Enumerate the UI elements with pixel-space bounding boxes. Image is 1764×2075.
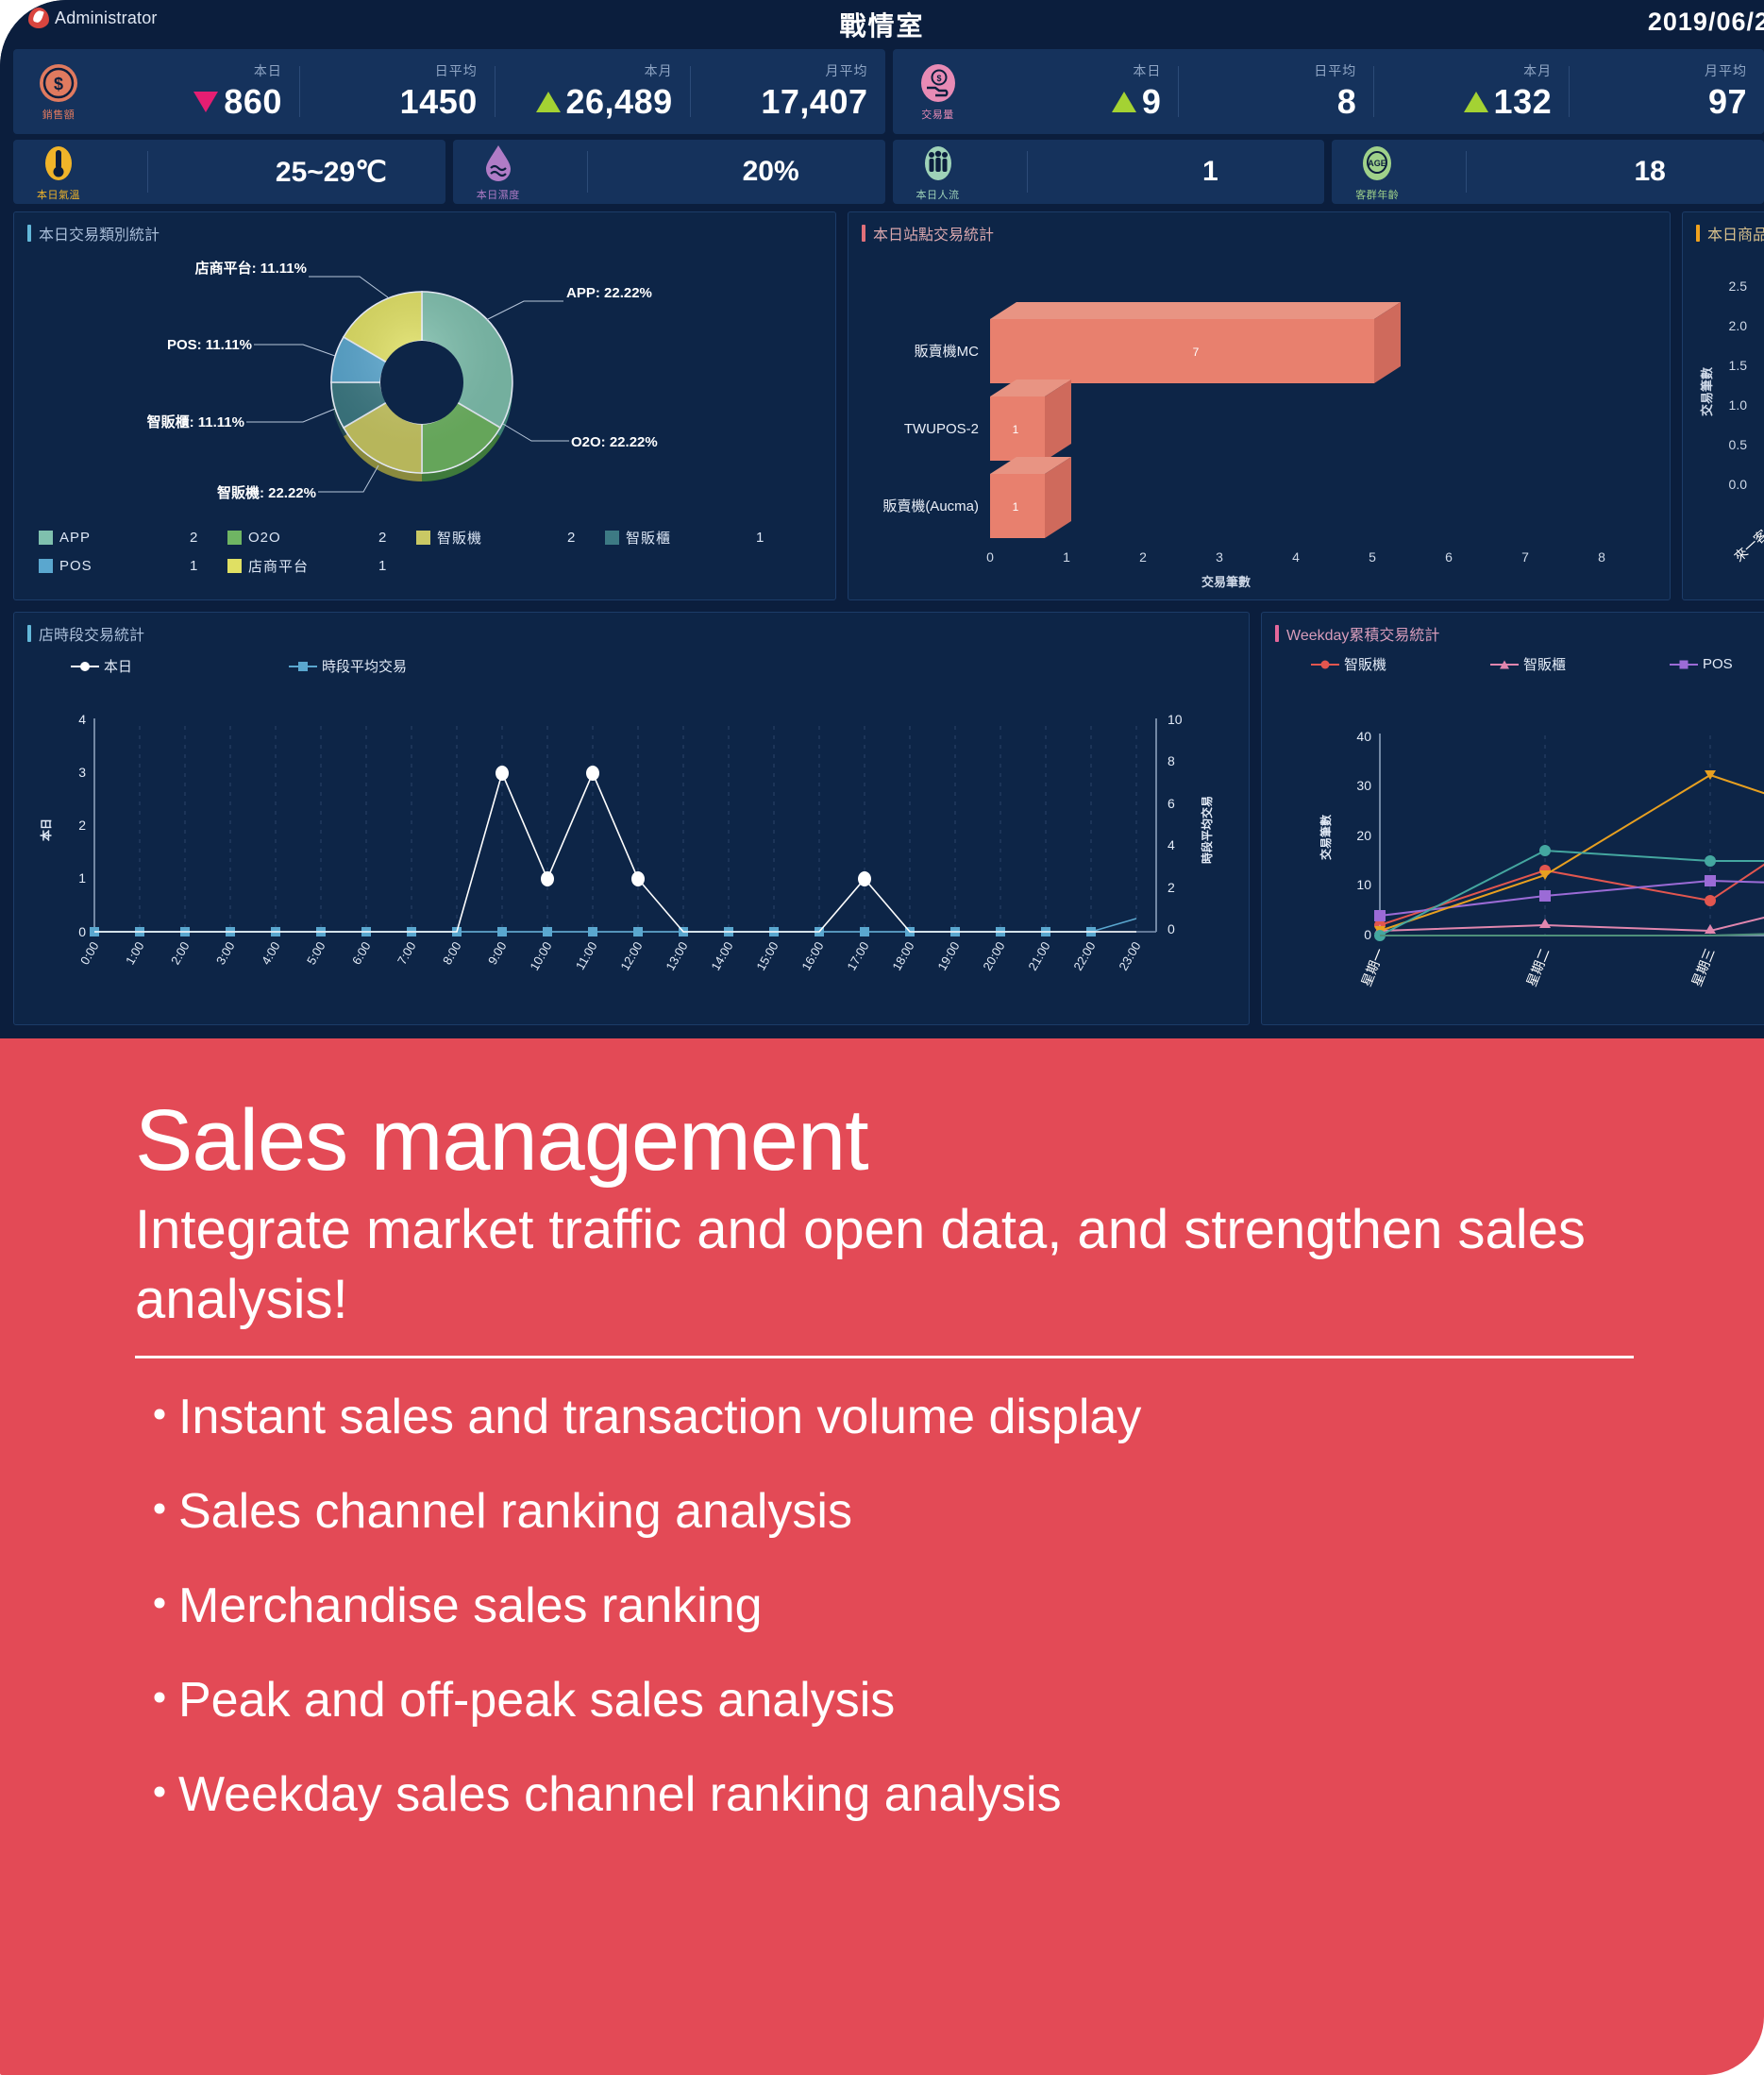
- svg-text:$: $: [54, 75, 63, 93]
- kpi-icon-label: 本日氣溫: [37, 187, 80, 202]
- svg-text:20:00: 20:00: [980, 939, 1007, 973]
- kpi-value: 1: [983, 156, 1325, 188]
- hourly-legend: 本日 時段平均交易: [71, 656, 450, 685]
- panel-title: 本日交易類別統計: [27, 222, 160, 245]
- kpi-caption: 本月: [1523, 61, 1552, 80]
- svg-text:16:00: 16:00: [798, 939, 826, 973]
- station-bar-chart: 7 販賣機MC 1 TWUPOS-2: [848, 250, 1672, 601]
- bar-category: TWUPOS-2: [904, 421, 979, 437]
- svg-text:0:00: 0:00: [77, 939, 102, 967]
- bar-value: 1: [1013, 423, 1019, 436]
- y-axis-label: 交易筆數: [1700, 367, 1714, 416]
- coin-dollar-icon: $: [37, 61, 80, 105]
- kpi-value: 17,407: [761, 82, 867, 122]
- kpi-value-group: 8: [1337, 82, 1357, 122]
- kpi-caption: 本日: [1133, 61, 1161, 80]
- legend-label: APP: [59, 530, 190, 546]
- legend-item[interactable]: 本日: [71, 656, 132, 676]
- svg-text:17:00: 17:00: [844, 939, 871, 973]
- legend-value: 2: [567, 530, 605, 546]
- legend-label: 智販機: [1344, 654, 1386, 674]
- kpi-value-group: 97: [1708, 82, 1747, 122]
- date-display: 2019/06/2: [1648, 8, 1764, 37]
- dashboard-screenshot: Administrator 戰情室 2019/06/2 $: [0, 0, 1764, 1038]
- list-item-label: Instant sales and transaction volume dis…: [178, 1392, 1141, 1442]
- kpi-value-group: 9: [1112, 82, 1162, 122]
- kpi-card-temperature[interactable]: 本日氣溫 25~29℃: [13, 140, 445, 204]
- kpi-value: 97: [1708, 82, 1747, 122]
- list-item: ・ Peak and off-peak sales analysis: [135, 1676, 1707, 1725]
- kpi-value-group: 860: [193, 82, 282, 122]
- legend-label: POS: [59, 558, 190, 574]
- legend-value: 1: [190, 558, 227, 574]
- legend-item[interactable]: 智販機: [1311, 654, 1490, 674]
- panel-title-text: Weekday累積交易統計: [1286, 622, 1439, 645]
- feature-list: ・ Instant sales and transaction volume d…: [135, 1392, 1707, 1819]
- x-axis-ticks: 0:00 1:00 2:00 3:00 4:00 5:00 6:00 7:00 …: [77, 939, 1144, 973]
- svg-text:星期一: 星期一: [1358, 946, 1387, 988]
- thermometer-icon: [37, 142, 80, 185]
- svg-text:2: 2: [1139, 549, 1147, 565]
- list-item: ・ Sales channel ranking analysis: [135, 1487, 1707, 1536]
- svg-text:7: 7: [1521, 549, 1529, 565]
- x-axis-ticks: 來一客-鮮蝦魚板 統一肉燥麵 阿Q桶麵-蘿汁排骨 樂事洋芋片-瑞士香濃起司 Po…: [1731, 488, 1764, 599]
- kpi-primary-row: $ 銷售額 本日 860: [13, 49, 1764, 134]
- panel-title-text: 本日交易類別統計: [39, 222, 160, 245]
- donut-label-o2o: O2O: 22.22%: [571, 434, 658, 450]
- svg-text:$: $: [936, 74, 941, 83]
- list-item: ・ Merchandise sales ranking: [135, 1581, 1707, 1630]
- kpi-caption: 本日: [254, 61, 282, 80]
- admin-user[interactable]: Administrator: [28, 8, 158, 28]
- svg-text:2: 2: [78, 818, 86, 833]
- age-group-icon: AGE: [1355, 142, 1399, 185]
- bullet-icon: ・: [135, 1581, 178, 1630]
- bar-category: 販賣機MC: [915, 344, 979, 360]
- legend-item[interactable]: POS 1: [39, 556, 227, 576]
- svg-text:10: 10: [1356, 877, 1371, 892]
- kpi-metric: 月平均 97: [1569, 49, 1764, 134]
- banner-title: Sales management: [135, 1097, 1707, 1186]
- svg-text:5: 5: [1369, 549, 1376, 565]
- hourly-line-chart: 432 10 本日 1086 420 時段平均交易: [14, 707, 1251, 1019]
- list-item: ・ Instant sales and transaction volume d…: [135, 1392, 1707, 1442]
- kpi-value: 1450: [400, 82, 478, 122]
- trend-down-icon: [193, 92, 218, 112]
- svg-text:13:00: 13:00: [663, 939, 690, 973]
- x-axis-label: 交易筆數: [1201, 575, 1251, 589]
- legend-label: O2O: [248, 530, 378, 546]
- bar-value: 1: [1013, 500, 1019, 514]
- series-line-avg: [94, 919, 1136, 932]
- svg-text:12:00: 12:00: [617, 939, 645, 973]
- kpi-value-group: 132: [1464, 82, 1553, 122]
- y-axis-ticks: 2.52.01.5 1.00.50.0: [1729, 278, 1748, 492]
- legend-label: 智販櫃: [1523, 654, 1566, 674]
- kpi-icon-label: 客群年齡: [1355, 187, 1399, 202]
- legend-label: 本日: [104, 656, 132, 676]
- donut-label-pos: POS: 11.11%: [167, 337, 252, 353]
- y-axis-ticks: 432 10: [78, 712, 86, 939]
- bar-3d: [990, 457, 1071, 538]
- kpi-value-group: 1450: [400, 82, 478, 122]
- kpi-metric: 本日 860: [104, 49, 299, 134]
- legend-item[interactable]: O2O 2: [227, 528, 416, 548]
- svg-text:18:00: 18:00: [889, 939, 916, 973]
- svg-text:2.5: 2.5: [1729, 278, 1748, 294]
- category-donut-chart: APP: 22.22% 店商平台: 11.11% POS: 11.11% 智販櫃…: [14, 245, 837, 518]
- gridlines: [94, 726, 1136, 932]
- donut-label-app: APP: 22.22%: [566, 285, 652, 301]
- svg-text:0: 0: [986, 549, 994, 565]
- weekday-legend: 智販機 智販櫃 POS O2O: [1311, 654, 1764, 683]
- svg-text:21:00: 21:00: [1025, 939, 1052, 973]
- kpi-metric: 本月 132: [1373, 49, 1569, 134]
- svg-text:4: 4: [1292, 549, 1300, 565]
- legend-value: 1: [756, 530, 794, 546]
- svg-text:10:00: 10:00: [527, 939, 554, 973]
- panel-title: 本日站點交易統計: [862, 222, 994, 245]
- svg-text:11:00: 11:00: [573, 939, 600, 972]
- trend-up-icon: [1112, 92, 1136, 112]
- svg-text:2.0: 2.0: [1729, 318, 1748, 333]
- kpi-secondary-row: 本日氣溫 25~29℃ 本日濕度: [13, 140, 1764, 204]
- kpi-card-foot-traffic[interactable]: 本日人流 1: [893, 140, 1325, 204]
- svg-text:星期二: 星期二: [1523, 946, 1553, 988]
- dashboard-titlebar: Administrator 戰情室 2019/06/2: [0, 0, 1764, 45]
- svg-text:19:00: 19:00: [934, 939, 962, 973]
- panel-weekday-stats: Weekday累積交易統計 智販機 智販櫃 POS: [1261, 612, 1764, 1025]
- svg-text:星期三: 星期三: [1688, 946, 1718, 988]
- legend-label: 時段平均交易: [322, 656, 407, 676]
- kpi-caption: 本月: [645, 61, 673, 80]
- trend-up-icon: [1464, 92, 1488, 112]
- svg-text:1:00: 1:00: [123, 939, 147, 967]
- svg-text:0: 0: [1168, 921, 1175, 936]
- bar-category: 販賣機(Aucma): [882, 498, 979, 515]
- svg-text:1.0: 1.0: [1729, 397, 1748, 413]
- top5-bar-chart: 2.52.01.5 1.00.50.0 交易筆數 2: [1683, 250, 1764, 601]
- kpi-value-group: 26,489: [536, 82, 673, 122]
- flame-logo-icon: [28, 8, 49, 28]
- kpi-metric: 日平均 8: [1178, 49, 1373, 134]
- y-axis-ticks: 403020 100: [1356, 729, 1371, 942]
- legend-item[interactable]: 店商平台 1: [227, 556, 416, 576]
- svg-text:8: 8: [1598, 549, 1605, 565]
- feature-banner: Sales management Integrate market traffi…: [0, 1038, 1764, 2075]
- x-axis-ticks: 012 345 678: [986, 549, 1605, 565]
- svg-text:40: 40: [1356, 729, 1371, 744]
- kpi-icon-label: 本日人流: [916, 187, 960, 202]
- kpi-caption: 日平均: [435, 61, 478, 80]
- panel-title-text: 本日站點交易統計: [873, 222, 994, 245]
- svg-text:20: 20: [1356, 828, 1371, 843]
- kpi-metric: 本日 9: [983, 49, 1179, 134]
- kpi-value: 25~29℃: [104, 156, 445, 189]
- y-axis-label: 本日: [39, 818, 53, 841]
- panel-title: Weekday累積交易統計: [1275, 622, 1439, 645]
- svg-text:4: 4: [1168, 837, 1175, 852]
- kpi-card-transactions[interactable]: $ 交易量 本日 9: [893, 49, 1764, 134]
- humidity-drop-icon: [477, 142, 520, 185]
- legend-label: POS: [1703, 656, 1733, 672]
- bar-3d: [990, 302, 1401, 383]
- page-root: Administrator 戰情室 2019/06/2 $: [0, 0, 1764, 2075]
- people-traffic-icon: [916, 142, 960, 185]
- legend-item[interactable]: 智販機 2: [416, 528, 605, 548]
- list-item: ・ Weekday sales channel ranking analysis: [135, 1770, 1707, 1819]
- list-item-label: Weekday sales channel ranking analysis: [178, 1770, 1062, 1819]
- bar-category: 來一客-鮮蝦魚板: [1731, 488, 1764, 565]
- svg-text:8:00: 8:00: [440, 939, 464, 967]
- list-item-label: Merchandise sales ranking: [178, 1581, 763, 1630]
- donut-label-cabinet: 智販櫃: 11.11%: [147, 413, 244, 430]
- donut-legend: APP 2 O2O 2 智販機 2: [39, 528, 822, 584]
- legend-value: 2: [190, 530, 227, 546]
- kpi-value: 9: [1142, 82, 1162, 122]
- svg-text:22:00: 22:00: [1070, 939, 1098, 973]
- bar-3d: [990, 380, 1071, 461]
- panel-top5-products: 本日商品銷售Top5 2.52.01.5 1.00.50.0 交易筆數: [1682, 211, 1764, 600]
- legend-item[interactable]: 智販櫃: [1490, 654, 1670, 674]
- svg-text:30: 30: [1356, 778, 1371, 793]
- svg-text:6: 6: [1445, 549, 1453, 565]
- legend-item[interactable]: APP 2: [39, 528, 227, 548]
- svg-text:1: 1: [78, 870, 86, 886]
- bullet-icon: ・: [135, 1770, 178, 1819]
- svg-text:3: 3: [78, 765, 86, 780]
- svg-text:14:00: 14:00: [708, 939, 735, 973]
- svg-text:0: 0: [78, 924, 86, 939]
- svg-text:8: 8: [1168, 753, 1175, 768]
- x-axis-ticks: 星期一 星期二 星期三 星期四 星期五 星期六 星期日: [1358, 946, 1764, 988]
- banner-subtitle: Integrate market traffic and open data, …: [135, 1195, 1607, 1335]
- svg-text:2: 2: [1168, 880, 1175, 895]
- kpi-value: 132: [1494, 82, 1553, 122]
- svg-text:4:00: 4:00: [259, 939, 283, 967]
- svg-text:1: 1: [1063, 549, 1070, 565]
- donut-label-ecom: 店商平台: 11.11%: [195, 260, 307, 277]
- bar-value: 7: [1193, 346, 1200, 359]
- panel-title-text: 本日商品銷售Top5: [1707, 222, 1764, 245]
- svg-text:9:00: 9:00: [485, 939, 510, 967]
- donut-label-vending: 智販機: 22.22%: [217, 484, 316, 501]
- svg-text:0.5: 0.5: [1729, 437, 1748, 452]
- series-line-pos: [1380, 766, 1764, 916]
- panel-category-stats: 本日交易類別統計: [13, 211, 836, 600]
- svg-text:23:00: 23:00: [1116, 939, 1143, 973]
- series-line-today: [94, 773, 1136, 932]
- list-item-label: Peak and off-peak sales analysis: [178, 1676, 895, 1725]
- kpi-card-sales[interactable]: $ 銷售額 本日 860: [13, 49, 885, 134]
- y2-axis-ticks: 1086 420: [1168, 712, 1183, 936]
- series-markers-pos: [1374, 760, 1764, 921]
- svg-text:AGE: AGE: [1368, 159, 1386, 168]
- panel-title: 本日商品銷售Top5: [1696, 222, 1764, 245]
- svg-text:2:00: 2:00: [168, 939, 193, 967]
- legend-item[interactable]: 時段平均交易: [289, 656, 407, 676]
- panel-hourly-stats: 店時段交易統計 本日 時段平均交易: [13, 612, 1250, 1025]
- hand-coin-icon: $: [916, 61, 960, 105]
- legend-value: 1: [378, 558, 416, 574]
- kpi-caption: 月平均: [826, 61, 868, 80]
- bullet-icon: ・: [135, 1392, 178, 1442]
- page-title: 戰情室: [839, 6, 924, 43]
- gridlines: [1545, 735, 1764, 936]
- svg-text:1.5: 1.5: [1729, 358, 1748, 373]
- svg-text:4: 4: [78, 712, 86, 727]
- svg-text:15:00: 15:00: [753, 939, 781, 973]
- trend-up-icon: [536, 92, 561, 112]
- kpi-icon-label: 銷售額: [42, 107, 76, 122]
- legend-value: 2: [378, 530, 416, 546]
- kpi-value: 860: [224, 82, 282, 122]
- panel-title: 店時段交易統計: [27, 622, 144, 645]
- legend-label: 智販櫃: [626, 528, 756, 548]
- kpi-value: 26,489: [566, 82, 673, 122]
- panel-title-text: 店時段交易統計: [39, 622, 144, 645]
- kpi-value-group: 17,407: [761, 82, 867, 122]
- svg-text:10: 10: [1168, 712, 1183, 727]
- svg-text:6:00: 6:00: [349, 939, 374, 967]
- svg-text:0: 0: [1364, 927, 1371, 942]
- kpi-metric: 日平均 1450: [299, 49, 495, 134]
- legend-label: 智販機: [437, 528, 567, 548]
- kpi-metric: 月平均 17,407: [690, 49, 885, 134]
- legend-item[interactable]: POS: [1670, 654, 1764, 674]
- svg-text:3: 3: [1216, 549, 1223, 565]
- svg-text:7:00: 7:00: [395, 939, 419, 967]
- list-item-label: Sales channel ranking analysis: [178, 1487, 852, 1536]
- kpi-value: 18: [1422, 156, 1764, 188]
- kpi-value: 8: [1337, 82, 1357, 122]
- series-line-o2o: [1380, 775, 1764, 936]
- svg-text:6: 6: [1168, 796, 1175, 811]
- panel-station-stats: 本日站點交易統計 7 販賣機MC: [848, 211, 1671, 600]
- banner-divider: [135, 1356, 1634, 1358]
- kpi-card-age-group[interactable]: AGE 客群年齡 18: [1332, 140, 1764, 204]
- y-axis-label: 交易筆數: [1319, 815, 1333, 860]
- kpi-icon-label: 本日濕度: [477, 187, 520, 202]
- kpi-card-humidity[interactable]: 本日濕度 20%: [453, 140, 885, 204]
- kpi-value: 20%: [544, 156, 885, 188]
- svg-text:0.0: 0.0: [1729, 477, 1748, 492]
- weekday-line-chart: 403020 100 交易筆數: [1262, 726, 1764, 1009]
- svg-text:5:00: 5:00: [304, 939, 328, 967]
- svg-text:3:00: 3:00: [213, 939, 238, 967]
- kpi-icon-label: 交易量: [921, 107, 954, 122]
- legend-item[interactable]: 智販櫃 1: [605, 528, 794, 548]
- kpi-caption: 日平均: [1314, 61, 1356, 80]
- y2-axis-label: 時段平均交易: [1200, 796, 1214, 864]
- bullet-icon: ・: [135, 1487, 178, 1536]
- kpi-metric: 本月 26,489: [495, 49, 690, 134]
- kpi-caption: 月平均: [1705, 61, 1747, 80]
- bullet-icon: ・: [135, 1676, 178, 1725]
- admin-label: Administrator: [55, 8, 158, 28]
- legend-label: 店商平台: [248, 556, 378, 576]
